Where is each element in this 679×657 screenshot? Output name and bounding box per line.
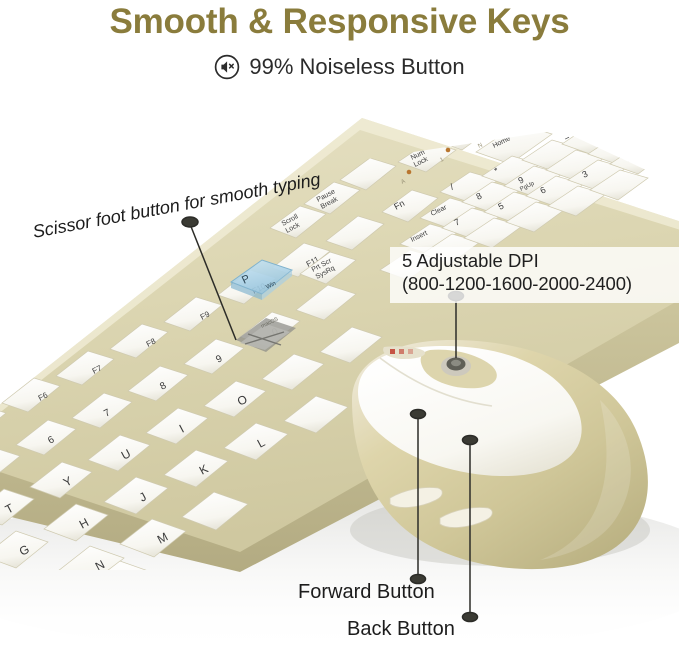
subtitle-text: 99% Noiseless Button — [249, 54, 464, 80]
callout-forward-button: Forward Button — [298, 581, 435, 604]
svg-text:off: off — [528, 117, 537, 125]
svg-text:End: End — [538, 122, 552, 134]
product-illustration: F5 F6 F7 F8 F9 F10 F11 6 7 8 9 0 T Y — [0, 100, 679, 657]
speaker-mute-icon — [214, 54, 240, 80]
svg-text:B: B — [514, 129, 520, 136]
leader-dot-forward — [411, 410, 426, 419]
leader-dot-back — [463, 436, 478, 445]
svg-text:Enter: Enter — [625, 147, 646, 164]
product-photo: F5 F6 F7 F8 F9 F10 F11 6 7 8 9 0 T Y — [0, 100, 679, 657]
leader-dot-dpi — [449, 292, 464, 301]
product-feature-image: Smooth & Responsive Keys 99% Noiseless B… — [0, 0, 679, 657]
page-title: Smooth & Responsive Keys — [0, 2, 679, 42]
callout-back-button: Back Button — [347, 618, 455, 641]
svg-text:on: on — [510, 122, 519, 130]
leader-dot-scissor — [182, 217, 198, 227]
keyboard-power-switch — [476, 109, 509, 134]
subtitle-row: 99% Noiseless Button — [0, 54, 679, 80]
